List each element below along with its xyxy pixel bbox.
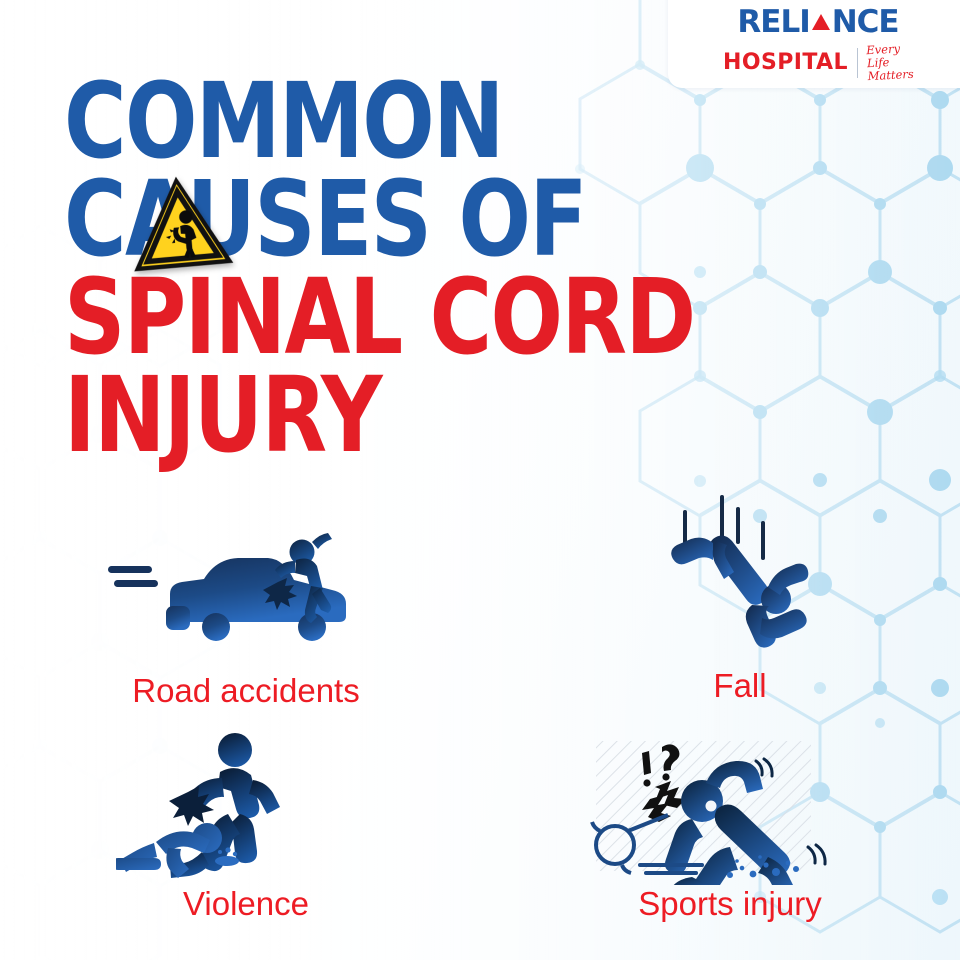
cause-label-violence: Violence [96,885,396,923]
headline-line-common: COMMON [64,72,753,170]
infographic-poster: RELI NCE HOSPITAL Every Life Matters COM… [0,0,960,960]
cause-label-fall: Fall [590,667,890,705]
headline-line-injury: INJURY [64,366,753,464]
car-hitting-pedestrian-icon [106,530,386,660]
logo-reliance-wordmark: RELI NCE [737,2,898,40]
logo-reliance-pre: RELI [737,4,809,40]
warning-triangle-back-injury-icon [121,164,238,285]
headline-line-spinal-cord: SPINAL CORD [64,268,753,366]
logo-reliance-post: NCE [832,4,899,40]
cause-card-violence: Violence [96,730,396,930]
cause-label-sports-injury: Sports injury [575,885,885,923]
cause-card-road-accidents: Road accidents [96,520,396,720]
person-falling-icon [650,495,840,660]
cause-card-sports-injury: Sports injury [575,730,885,930]
red-triangle-icon [812,14,830,30]
person-kicking-victim-icon [116,730,376,880]
athlete-falling-racquet-icon [580,735,870,885]
logo-a-triangle [810,2,832,32]
cause-label-road-accidents: Road accidents [96,672,396,710]
cause-card-fall: Fall [590,495,890,710]
